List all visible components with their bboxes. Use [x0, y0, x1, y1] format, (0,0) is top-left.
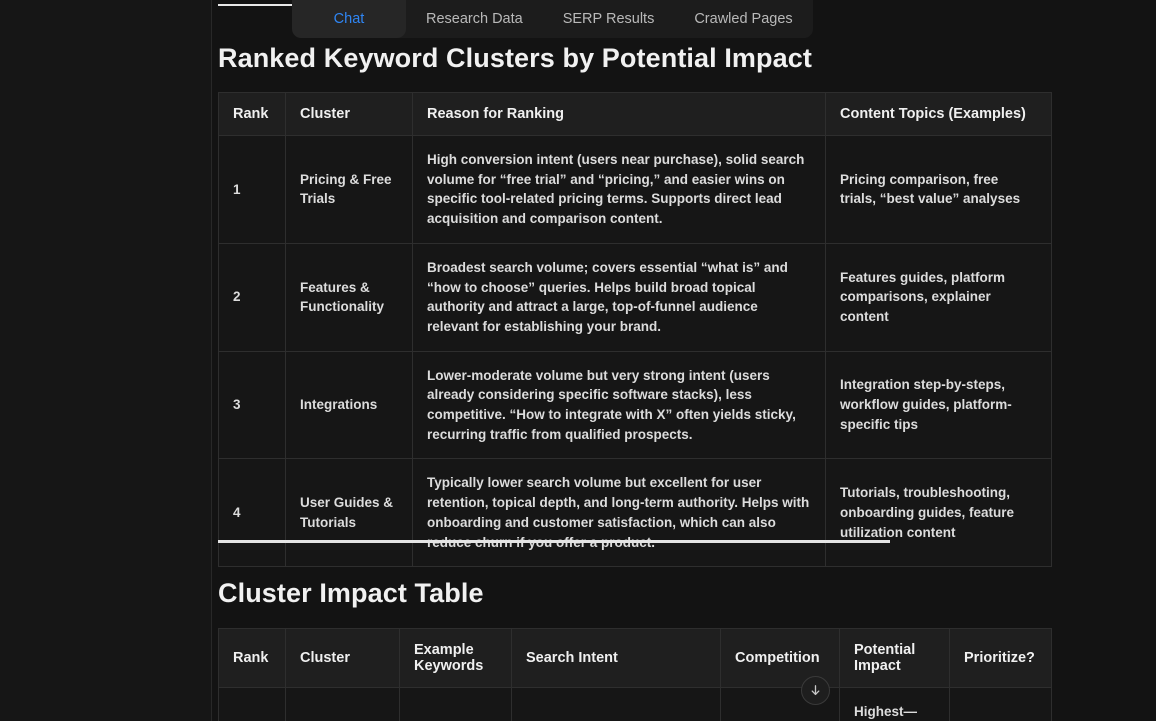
tab-bar-container: Chat Research Data SERP Results Crawled … [213, 0, 1156, 40]
tab-crawled-pages[interactable]: Crawled Pages [674, 0, 812, 38]
tab-bar: Chat Research Data SERP Results Crawled … [292, 0, 813, 38]
ranked-keyword-clusters-table: Rank Cluster Reason for Ranking Content … [218, 92, 1052, 567]
column-header-impact[interactable]: Potential Impact [840, 629, 950, 688]
cell-cluster: User Guides & Tutorials [286, 459, 413, 567]
section-divider [218, 540, 890, 543]
scroll-to-bottom-button[interactable] [801, 676, 830, 705]
cell-rank: 1 [219, 136, 286, 244]
table-header: Rank Cluster Reason for Ranking Content … [219, 93, 1052, 136]
tab-serp-results[interactable]: SERP Results [543, 0, 675, 38]
table-row: 2 Features & Functionality Broadest sear… [219, 243, 1052, 351]
column-header-cluster[interactable]: Cluster [286, 93, 413, 136]
cluster-impact-heading: Cluster Impact Table [218, 578, 484, 609]
app-root: Chat Research Data SERP Results Crawled … [0, 0, 1156, 721]
tab-chat[interactable]: Chat [292, 0, 406, 38]
cell-impact: Highest— [840, 688, 950, 721]
cell-topics: Pricing comparison, free trials, “best v… [826, 136, 1052, 244]
table-row: 4 User Guides & Tutorials Typically lowe… [219, 459, 1052, 567]
table-header-row: Rank Cluster Example Keywords Search Int… [219, 629, 1052, 688]
cell-topics: Features guides, platform comparisons, e… [826, 243, 1052, 351]
cell-reason: Lower-moderate volume but very strong in… [413, 351, 826, 459]
cell-keywords [400, 688, 512, 721]
arrow-down-icon [808, 683, 823, 698]
cell-rank: 2 [219, 243, 286, 351]
column-header-intent[interactable]: Search Intent [512, 629, 721, 688]
cell-cluster: Pricing & Free Trials [286, 136, 413, 244]
main-content-panel: Chat Research Data SERP Results Crawled … [213, 0, 1156, 721]
cell-reason: Typically lower search volume but excell… [413, 459, 826, 567]
column-header-topics[interactable]: Content Topics (Examples) [826, 93, 1052, 136]
left-sidebar-rail [0, 0, 212, 721]
cell-topics: Tutorials, troubleshooting, onboarding g… [826, 459, 1052, 567]
cell-rank: 4 [219, 459, 286, 567]
table-header: Rank Cluster Example Keywords Search Int… [219, 629, 1052, 688]
table-header-row: Rank Cluster Reason for Ranking Content … [219, 93, 1052, 136]
cell-reason: Broadest search volume; covers essential… [413, 243, 826, 351]
cell-intent [512, 688, 721, 721]
ranked-clusters-heading: Ranked Keyword Clusters by Potential Imp… [218, 43, 812, 74]
column-header-reason[interactable]: Reason for Ranking [413, 93, 826, 136]
cell-prioritize [950, 688, 1052, 721]
column-header-prioritize[interactable]: Prioritize? [950, 629, 1052, 688]
column-header-keywords[interactable]: Example Keywords [400, 629, 512, 688]
table-row: 3 Integrations Lower-moderate volume but… [219, 351, 1052, 459]
cell-cluster: Features & Functionality [286, 243, 413, 351]
cell-rank [219, 688, 286, 721]
cell-cluster: Integrations [286, 351, 413, 459]
tab-research-data[interactable]: Research Data [406, 0, 543, 38]
column-header-rank[interactable]: Rank [219, 629, 286, 688]
cell-topics: Integration step-by-steps, workflow guid… [826, 351, 1052, 459]
table-row: 1 Pricing & Free Trials High conversion … [219, 136, 1052, 244]
cell-reason: High conversion intent (users near purch… [413, 136, 826, 244]
cell-rank: 3 [219, 351, 286, 459]
table-body: 1 Pricing & Free Trials High conversion … [219, 136, 1052, 567]
cell-cluster [286, 688, 400, 721]
column-header-rank[interactable]: Rank [219, 93, 286, 136]
table-body: Highest— [219, 688, 1052, 721]
tab-bar-rule [218, 4, 296, 6]
table-row: Highest— [219, 688, 1052, 721]
cluster-impact-table: Rank Cluster Example Keywords Search Int… [218, 628, 1052, 721]
column-header-cluster[interactable]: Cluster [286, 629, 400, 688]
